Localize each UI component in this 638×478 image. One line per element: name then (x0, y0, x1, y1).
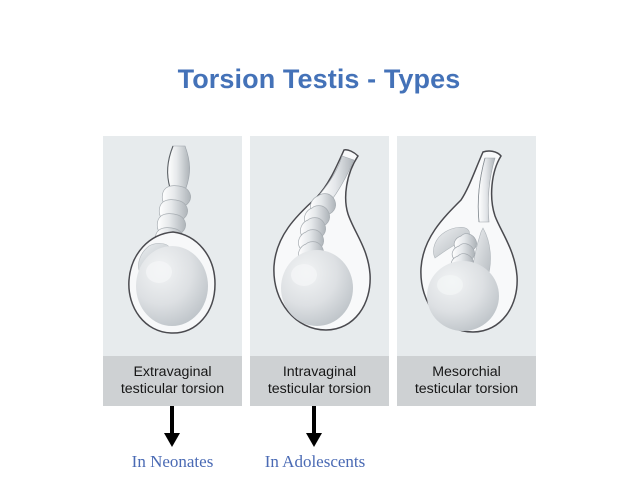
page-title: Torsion Testis - Types (0, 64, 638, 95)
caption-intravaginal: Intravaginal testicular torsion (250, 356, 389, 406)
caption-line-2: testicular torsion (121, 381, 224, 398)
caption-line-1: Intravaginal (283, 364, 356, 381)
mesorchial-torsion-illustration (397, 136, 536, 356)
panel-mesorchial: Mesorchial testicular torsion (397, 136, 536, 406)
torsion-types-figure: Extravaginal testicular torsion (103, 136, 536, 406)
caption-mesorchial: Mesorchial testicular torsion (397, 356, 536, 406)
intravaginal-torsion-illustration (250, 136, 389, 356)
down-arrow-icon (303, 406, 325, 448)
annotation-in-neonates: In Neonates (110, 452, 235, 472)
caption-line-2: testicular torsion (268, 381, 371, 398)
panel-extravaginal: Extravaginal testicular torsion (103, 136, 242, 406)
caption-extravaginal: Extravaginal testicular torsion (103, 356, 242, 406)
slide-canvas: Torsion Testis - Types (0, 0, 638, 478)
caption-line-1: Extravaginal (133, 364, 211, 381)
extravaginal-torsion-illustration (103, 136, 242, 356)
caption-line-1: Mesorchial (432, 364, 501, 381)
annotation-in-adolescents: In Adolescents (248, 452, 382, 472)
panel-intravaginal: Intravaginal testicular torsion (250, 136, 389, 406)
caption-line-2: testicular torsion (415, 381, 518, 398)
down-arrow-icon (161, 406, 183, 448)
